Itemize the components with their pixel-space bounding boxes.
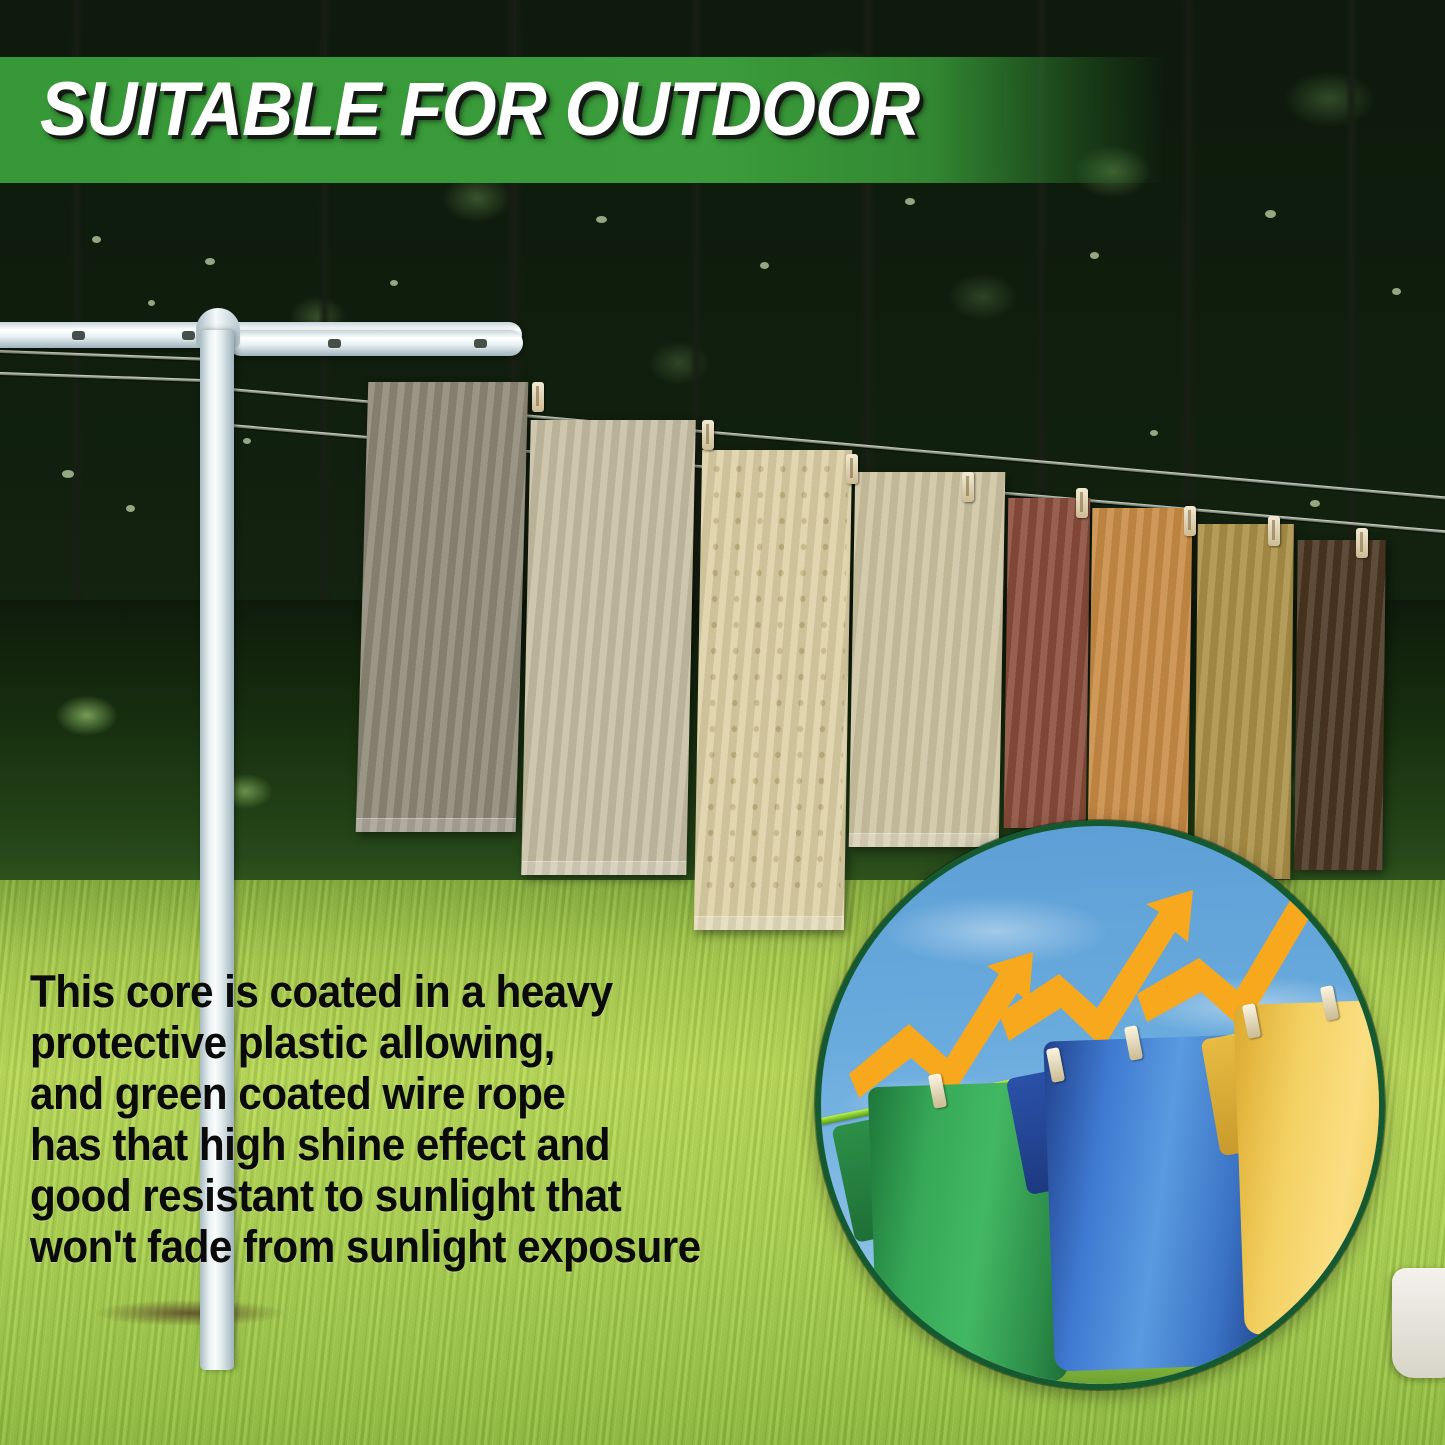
product-marketing-image: SUITABLE FOR OUTDOOR This core is coated… xyxy=(0,0,1445,1445)
laundry-basket xyxy=(1392,1268,1445,1378)
description-line-2: protective plastic allowing, xyxy=(30,1017,744,1068)
towel-rust xyxy=(1004,498,1091,828)
description-line-6: won't fade from sunlight exposure xyxy=(30,1221,744,1272)
towel-tan xyxy=(1088,508,1193,853)
dirt-patch xyxy=(95,1300,285,1326)
feature-inset-circle xyxy=(815,820,1385,1390)
clothespin xyxy=(962,472,974,502)
towel-darkbrown xyxy=(1294,540,1385,870)
clothespin xyxy=(846,454,858,484)
clothespin xyxy=(1184,506,1196,536)
description-line-4: has that high shine effect and xyxy=(30,1119,744,1170)
description-line-3: and green coated wire rope xyxy=(30,1068,744,1119)
description-line-1: This core is coated in a heavy xyxy=(30,966,744,1017)
clothespin xyxy=(532,382,544,412)
clothespin xyxy=(1076,488,1088,518)
clothespin xyxy=(702,420,714,450)
towel-taupe xyxy=(356,382,529,832)
shirt-yellow xyxy=(1233,999,1385,1335)
clothespin xyxy=(1356,528,1368,558)
towel-cream xyxy=(521,420,696,875)
towel-sand xyxy=(849,472,1006,847)
description-text: This core is coated in a heavy protectiv… xyxy=(30,966,744,1272)
page-title: SUITABLE FOR OUTDOOR xyxy=(40,66,919,153)
clothespin xyxy=(1268,516,1280,546)
clothesline-crossbar-right xyxy=(228,330,523,356)
description-line-5: good resistant to sunlight that xyxy=(30,1170,744,1221)
